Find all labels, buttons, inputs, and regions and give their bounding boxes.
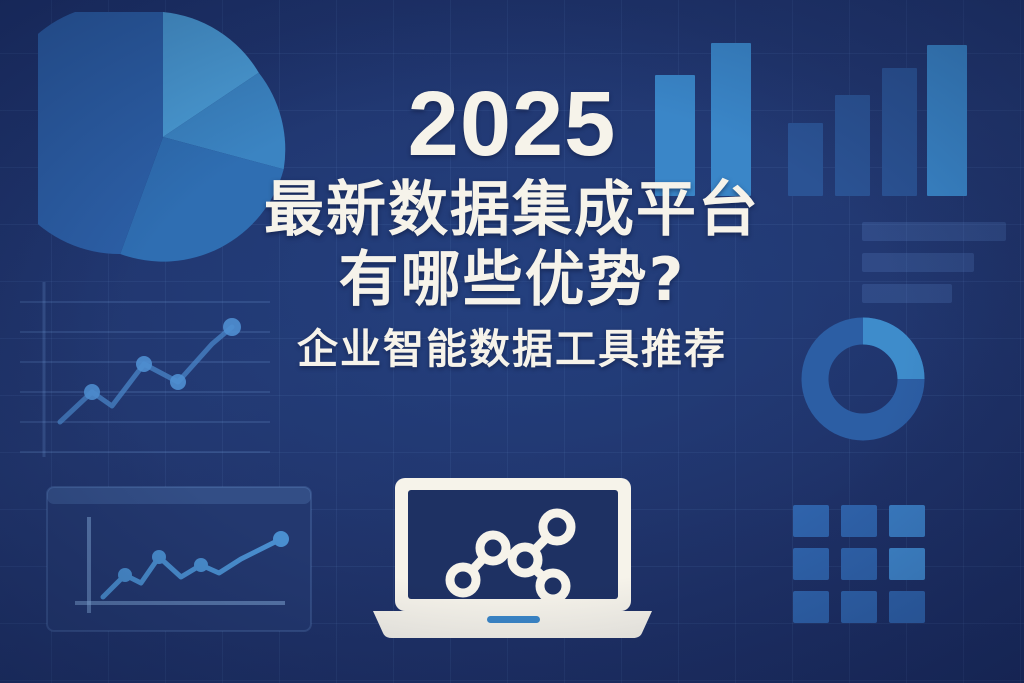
grid-square-r3c1 (793, 591, 829, 623)
laptop-screen (408, 490, 618, 599)
grid-square-r2c1 (793, 548, 829, 580)
grid-square-r1c3 (889, 505, 925, 537)
cover-canvas: 2025 最新数据集成平台 有哪些优势? 企业智能数据工具推荐 (0, 0, 1024, 683)
grid-square-r2c3 (889, 548, 925, 580)
grid-square-r3c2 (841, 591, 877, 623)
grid-square-r1c1 (793, 505, 829, 537)
grid-square-r3c3 (889, 591, 925, 623)
grid-square-r2c2 (841, 548, 877, 580)
headline-line-2: 有哪些优势? (0, 246, 1024, 316)
laptop-trackpad (487, 616, 540, 623)
headline-line-1: 最新数据集成平台 (0, 176, 1024, 246)
page-title-year: 2025 (0, 78, 1024, 170)
sparkline-card-decoration (45, 485, 315, 633)
card-panel (47, 487, 311, 631)
headline-block: 2025 最新数据集成平台 有哪些优势? 企业智能数据工具推荐 (0, 78, 1024, 374)
headline-subtitle: 企业智能数据工具推荐 (0, 325, 1024, 374)
laptop-base (373, 611, 652, 638)
square-grid-decoration (793, 505, 925, 623)
card-titlebar (47, 487, 311, 504)
grid-square-r1c2 (841, 505, 877, 537)
laptop-network-icon (365, 470, 660, 642)
